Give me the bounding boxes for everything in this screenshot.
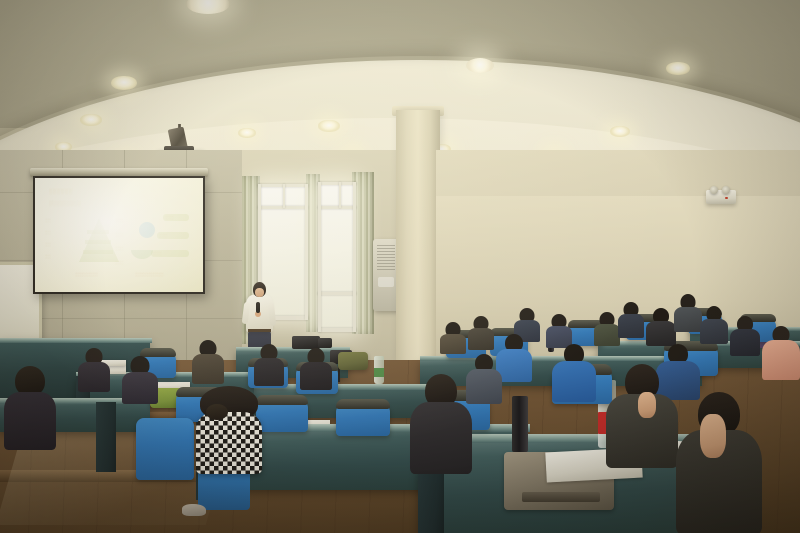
microphone [256, 302, 260, 313]
audience-member-left-front [4, 366, 56, 446]
ceiling-downlight [80, 114, 102, 126]
window-frame-bottom [318, 328, 356, 332]
chair-headrest [336, 399, 390, 409]
window-frame-left [318, 182, 321, 332]
window-frame-top [318, 182, 356, 185]
lecture-hall-photo: ░░░░░░ ░░░░░░░░░ ░░ ░░ ░░ ░░ ░░░ ░░░ ░░░… [0, 0, 800, 533]
audience-hand [700, 414, 726, 458]
bag-strap [522, 492, 600, 502]
audience-member-glasses [730, 316, 760, 354]
audience-member [700, 306, 728, 342]
desk-end-panel [96, 402, 116, 472]
window-mullion [339, 182, 341, 208]
audience-member [254, 344, 284, 384]
ceiling-downlight [238, 128, 256, 138]
ceiling-downlight [466, 58, 494, 73]
projector-glare [35, 178, 203, 292]
audience-member-pink-top [762, 326, 800, 378]
audience-member [468, 316, 494, 348]
audience-hand [638, 392, 656, 418]
chair-seat [198, 470, 250, 510]
presenter-belt [248, 329, 271, 332]
window-frame-rail [318, 292, 356, 295]
window-frame-right [353, 182, 356, 332]
emergency-light-led [725, 197, 728, 199]
structural-column [396, 110, 440, 360]
audience-member-leather-jacket [646, 308, 676, 344]
audience-member-houndstooth-jacket [196, 412, 262, 474]
bottle-label-green [374, 368, 384, 377]
audience-member [546, 314, 572, 346]
thermos-flask [512, 396, 528, 452]
emergency-lamp-head [722, 186, 730, 194]
ceiling-downlight [610, 126, 630, 137]
window-mullion [283, 184, 285, 208]
audience-member [122, 356, 158, 402]
olive-backpack [338, 352, 368, 370]
audience-member [78, 348, 110, 390]
emergency-light [706, 190, 736, 204]
audience-member [594, 312, 620, 344]
audience-member [674, 294, 702, 330]
audience-member [440, 322, 466, 352]
audience-member [192, 340, 224, 382]
projection-screen-surface: ░░░░░░ ░░░░░░░░░ ░░ ░░ ░░ ░░ ░░░ ░░░ ░░░… [35, 178, 203, 292]
hair-bun [206, 404, 228, 420]
podium-top-edge [0, 338, 152, 343]
chair-headrest [256, 395, 308, 405]
audience-member-blue-shirt-glasses [552, 344, 596, 400]
ceiling-downlight [318, 120, 340, 132]
ceiling-downlight [111, 76, 137, 90]
equipment-case [318, 338, 332, 348]
audience-member-nearest-right [676, 392, 762, 533]
ceiling-downlight [666, 62, 690, 75]
projection-screen: ░░░░░░ ░░░░░░░░░ ░░ ░░ ░░ ░░ ░░░ ░░░ ░░░… [33, 176, 205, 294]
audience-member [300, 348, 332, 388]
audience-member-front-center [410, 374, 472, 470]
emergency-lamp-head [710, 186, 718, 194]
window-frame-right [305, 184, 308, 320]
presenter-face [255, 288, 264, 297]
shoe [182, 504, 206, 516]
chair [136, 418, 194, 480]
window-frame-transom [318, 206, 356, 209]
audience-member [618, 302, 644, 336]
